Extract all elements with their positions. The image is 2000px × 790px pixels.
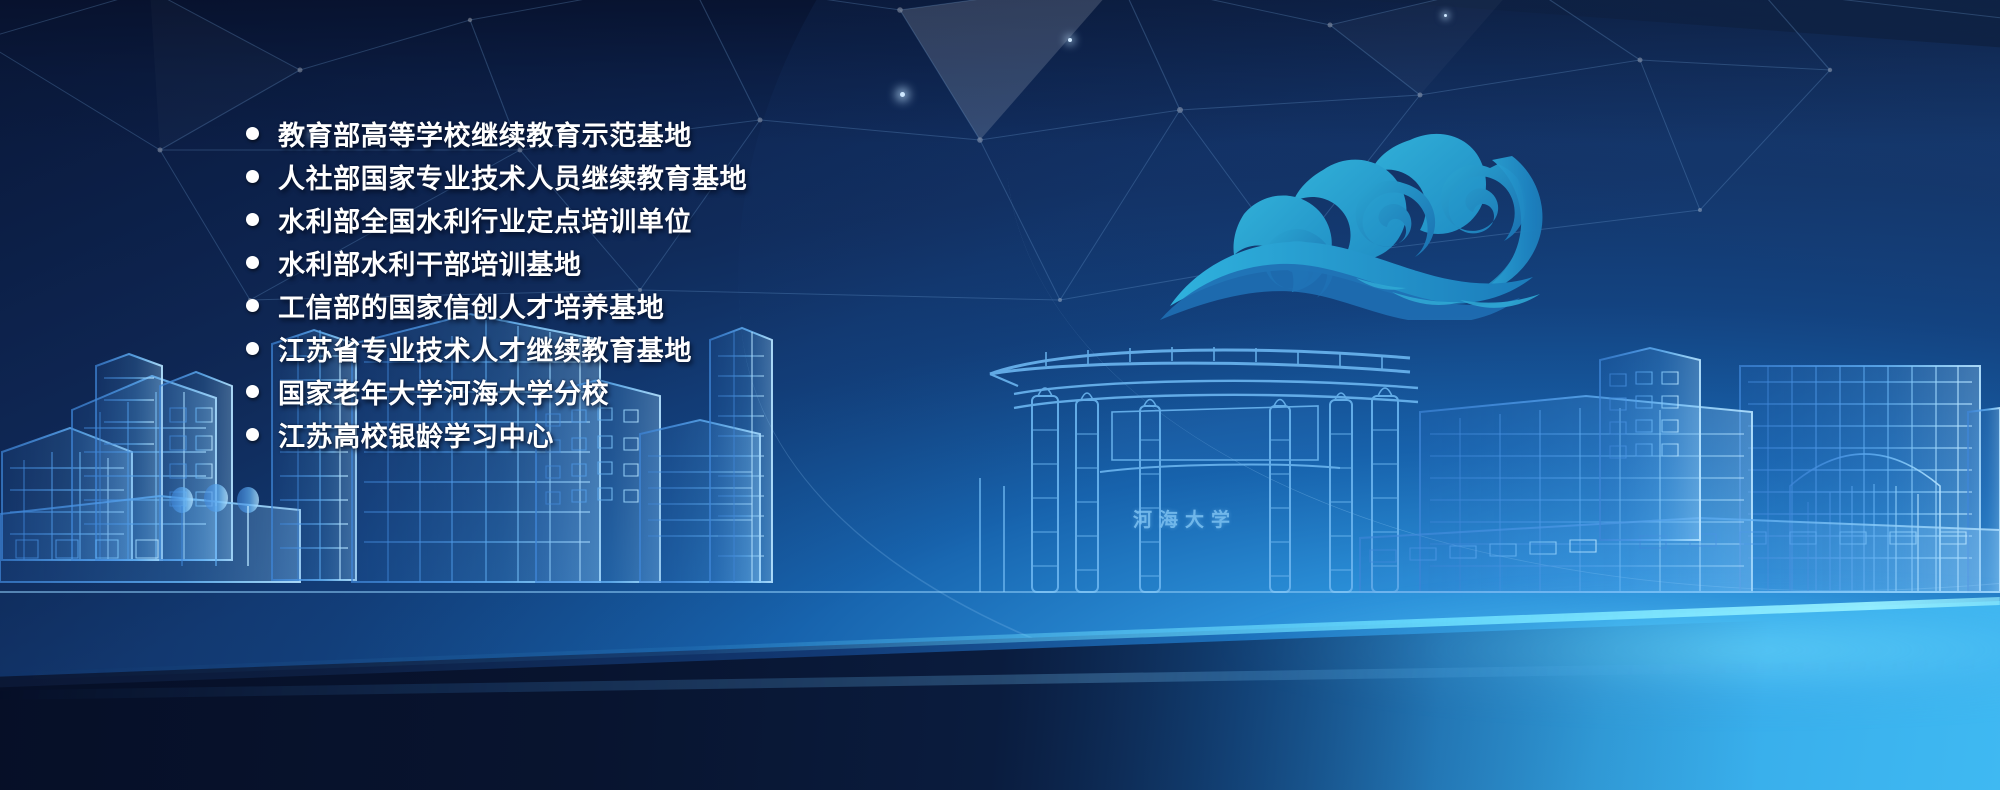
glow-node-icon [900, 92, 905, 97]
list-item[interactable]: 水利部全国水利行业定点培训单位 [246, 198, 747, 241]
list-item-label: 江苏省专业技术人才继续教育基地 [278, 329, 692, 368]
bullet-dot-icon [246, 299, 259, 312]
list-item[interactable]: 国家老年大学河海大学分校 [246, 370, 747, 413]
bullet-dot-icon [246, 127, 259, 140]
credentials-list: 教育部高等学校继续教育示范基地 人社部国家专业技术人员继续教育基地 水利部全国水… [246, 112, 747, 456]
list-item-label: 教育部高等学校继续教育示范基地 [278, 114, 692, 153]
bullet-dot-icon [246, 385, 259, 398]
bullet-dot-icon [246, 256, 259, 269]
list-item[interactable]: 工信部的国家信创人才培养基地 [246, 284, 747, 327]
glow-node-icon [1444, 14, 1447, 17]
list-item[interactable]: 江苏省专业技术人才继续教育基地 [246, 327, 747, 370]
glow-node-icon [1068, 38, 1072, 42]
bullet-dot-icon [246, 213, 259, 226]
bullet-dot-icon [246, 428, 259, 441]
list-item-label: 国家老年大学河海大学分校 [278, 372, 609, 411]
list-item-label: 水利部水利干部培训基地 [278, 243, 582, 282]
list-item-label: 工信部的国家信创人才培养基地 [278, 286, 664, 325]
auspicious-cloud-wave-icon [1160, 110, 1580, 320]
bullet-dot-icon [246, 342, 259, 355]
bullet-dot-icon [246, 170, 259, 183]
list-item[interactable]: 教育部高等学校继续教育示范基地 [246, 112, 747, 155]
banner-canvas: 河海大学 教育部高等学校继续教育示范基地 人社部国家专业技术人员继续教育基地 水… [0, 0, 2000, 790]
list-item-label: 水利部全国水利行业定点培训单位 [278, 200, 692, 239]
list-item[interactable]: 江苏高校银龄学习中心 [246, 413, 747, 456]
list-item-label: 江苏高校银龄学习中心 [278, 415, 554, 454]
list-item-label: 人社部国家专业技术人员继续教育基地 [278, 157, 747, 196]
list-item[interactable]: 水利部水利干部培训基地 [246, 241, 747, 284]
gate-plaque-text: 河海大学 [1133, 505, 1237, 532]
list-item[interactable]: 人社部国家专业技术人员继续教育基地 [246, 155, 747, 198]
